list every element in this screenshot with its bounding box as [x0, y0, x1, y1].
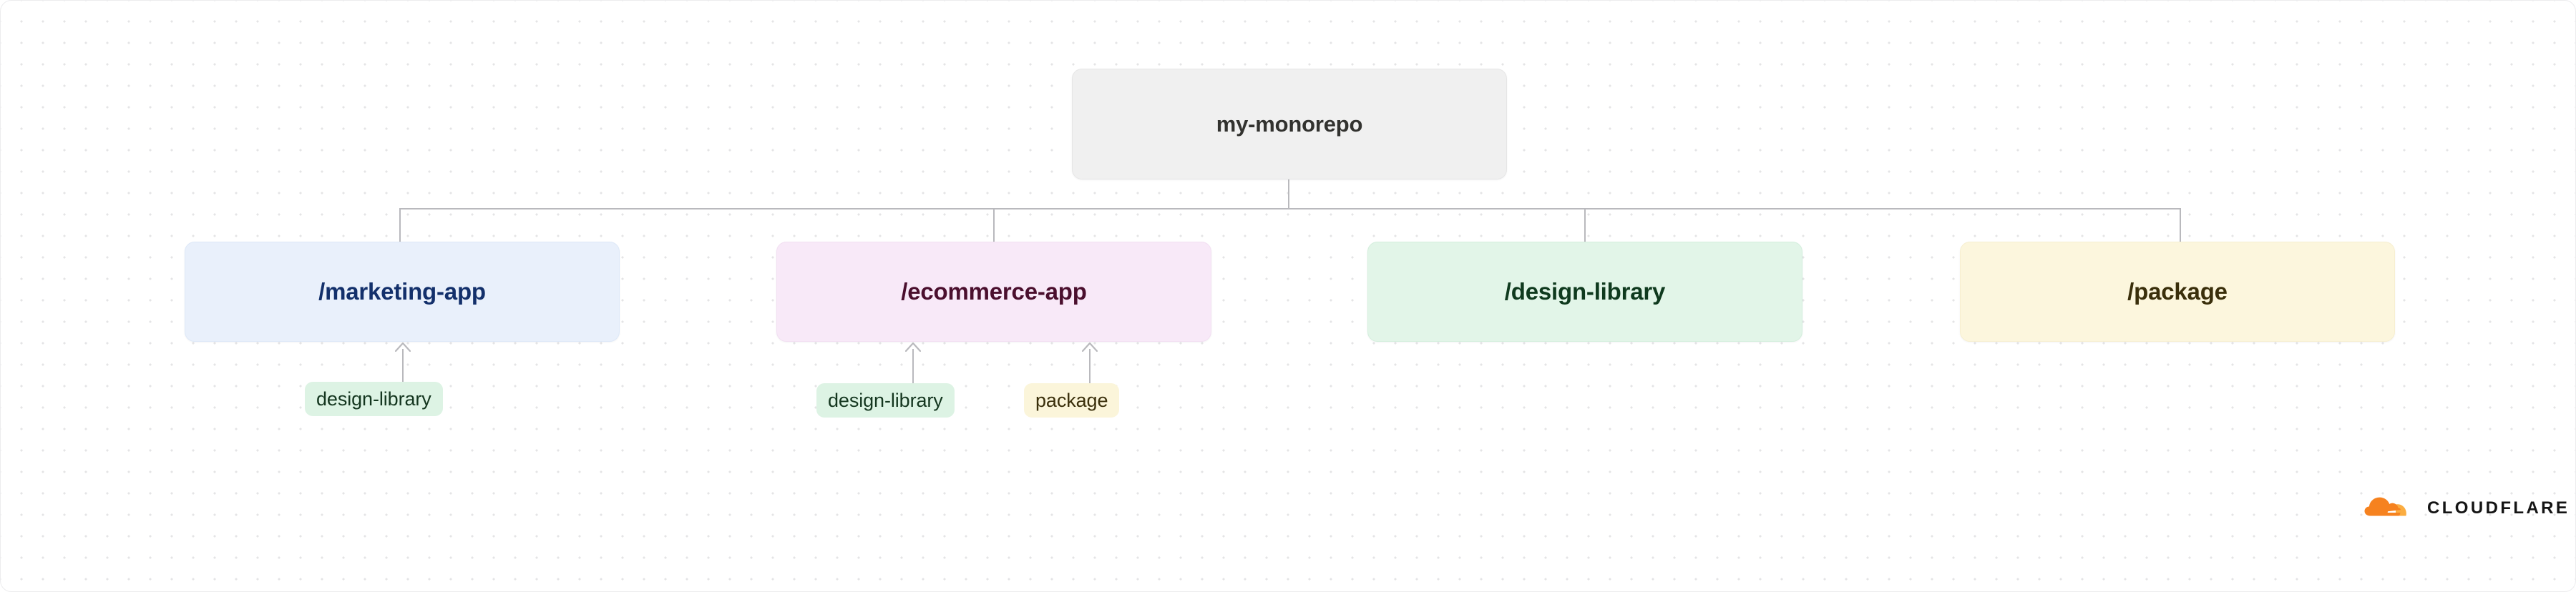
- dependency-pill-label: design-library: [316, 388, 431, 410]
- connector-dep-marketing-design-library: [402, 349, 404, 382]
- cloudflare-wordmark: CLOUDFLARE: [2427, 500, 2570, 517]
- node-design-library-label: /design-library: [1505, 278, 1665, 305]
- node-marketing-app[interactable]: /marketing-app: [185, 242, 620, 342]
- node-package[interactable]: /package: [1960, 242, 2395, 342]
- connector-dep-ecommerce-design-library: [912, 349, 914, 383]
- connector-dep-ecommerce-package: [1089, 349, 1091, 383]
- connector-drop-marketing-app: [399, 208, 401, 242]
- arrowhead-ecommerce-design-library: [905, 342, 921, 352]
- node-design-library[interactable]: /design-library: [1367, 242, 1802, 342]
- connector-drop-ecommerce-app: [993, 208, 995, 242]
- node-ecommerce-app[interactable]: /ecommerce-app: [776, 242, 1211, 342]
- connector-horizontal-bus: [399, 208, 2181, 209]
- cloudflare-logo: CLOUDFLARE: [2364, 494, 2570, 523]
- dependency-pill-label: package: [1035, 390, 1108, 412]
- node-my-monorepo-label: my-monorepo: [1216, 112, 1362, 137]
- diagram-canvas: my-monorepo /marketing-app /ecommerce-ap…: [0, 0, 2576, 592]
- dependency-pill-ecommerce-design-library[interactable]: design-library: [816, 383, 955, 418]
- connector-drop-design-library: [1584, 208, 1586, 242]
- dependency-pill-ecommerce-package[interactable]: package: [1024, 383, 1119, 418]
- dependency-pill-label: design-library: [828, 390, 943, 412]
- cloudflare-cloud-icon: [2364, 494, 2417, 523]
- node-my-monorepo[interactable]: my-monorepo: [1072, 69, 1507, 179]
- node-ecommerce-app-label: /ecommerce-app: [901, 278, 1086, 305]
- arrowhead-ecommerce-package: [1082, 342, 1098, 352]
- connector-drop-package: [2180, 208, 2181, 242]
- node-package-label: /package: [2127, 278, 2228, 305]
- arrowhead-marketing-design-library: [395, 342, 411, 352]
- connector-root-stem: [1288, 179, 1289, 209]
- node-marketing-app-label: /marketing-app: [318, 278, 486, 305]
- dependency-pill-marketing-design-library[interactable]: design-library: [305, 382, 443, 416]
